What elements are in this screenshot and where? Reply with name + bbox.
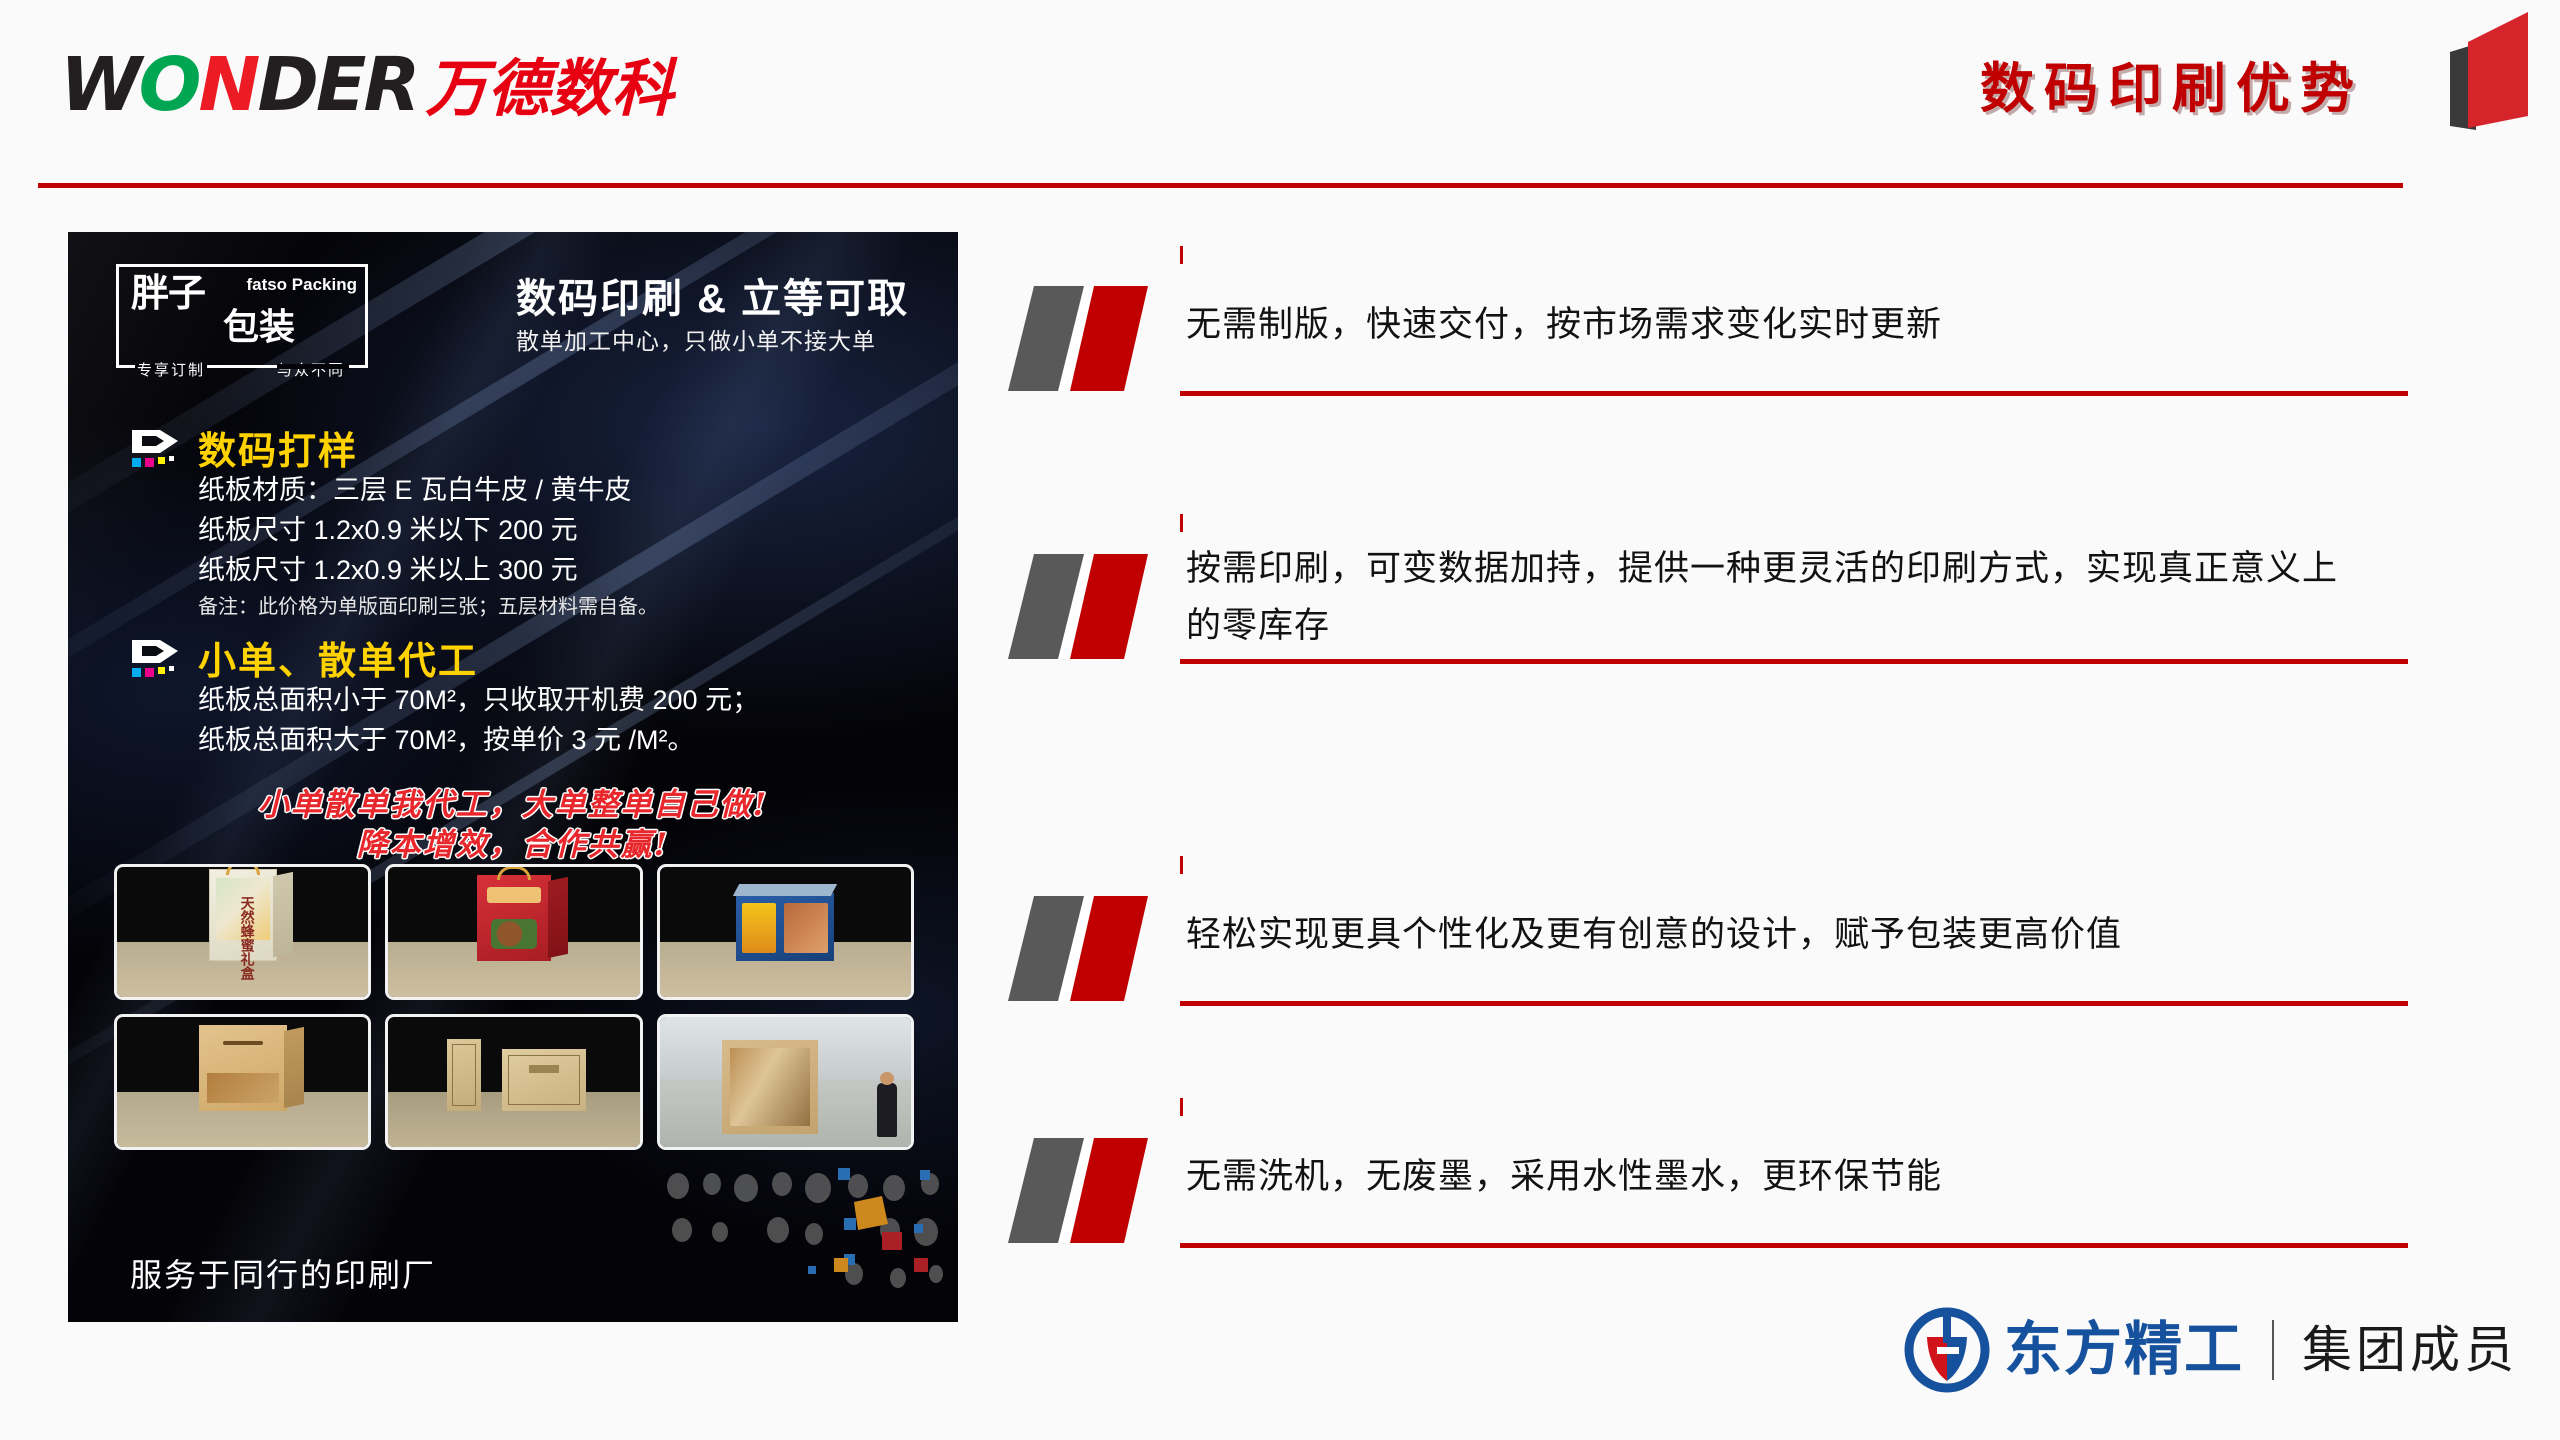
fatso-cn-line1: 胖子 — [131, 275, 205, 313]
photo-box — [502, 1049, 586, 1111]
advantage-text: 无需洗机，无废墨，采用水性墨水，更环保节能 — [1186, 1148, 2346, 1205]
photo-box — [736, 893, 834, 961]
photo-box — [477, 875, 551, 961]
product-photo — [385, 1014, 642, 1150]
photo-box-panel — [742, 903, 776, 953]
photo-box-art — [207, 1073, 279, 1103]
dot-pattern-decoration — [658, 1162, 958, 1322]
section-body: 纸板材质：三层 E 瓦白牛皮 / 黄牛皮 纸板尺寸 1.2x0.9 米以下 20… — [198, 470, 658, 624]
product-photo — [114, 1014, 371, 1150]
chevron-bars-icon — [1008, 896, 1186, 1001]
bullet-tick — [1180, 514, 1183, 532]
wordmark-o-green: O — [139, 42, 199, 128]
poster-subheadline: 散单加工中心，只做小单不接大单 — [516, 322, 876, 356]
fatso-tag-left: 专享订制 — [137, 359, 205, 380]
advantage-underline — [1180, 391, 2408, 396]
chevron-bars-icon — [1008, 286, 1186, 391]
photo-box-label: 天然蜂蜜礼盒 — [238, 896, 258, 980]
advantage-underline — [1180, 659, 2408, 664]
arrow-bullet-icon — [130, 428, 186, 470]
photo-person-head — [880, 1072, 894, 1085]
chevron-bars-icon — [1008, 1138, 1186, 1243]
photo-box-badge — [487, 887, 541, 903]
section-line: 纸板材质：三层 E 瓦白牛皮 / 黄牛皮 — [198, 470, 658, 510]
chevron-bars-icon — [1008, 554, 1186, 659]
photo-handle-icon — [497, 866, 531, 880]
wordmark-der: DER — [257, 42, 417, 128]
arrow-bullet-icon — [130, 638, 186, 680]
wordmark-w: W — [60, 42, 139, 128]
photo-box-frame — [452, 1044, 476, 1106]
photo-box — [199, 1025, 287, 1111]
advantage-text: 轻松实现更具个性化及更有创意的设计，赋予包装更高价值 — [1186, 906, 2346, 963]
bullet-tick — [1180, 1098, 1183, 1116]
product-photo — [657, 1014, 914, 1150]
photo-box-title-bar — [529, 1065, 559, 1073]
photo-box-frame — [508, 1055, 580, 1105]
photo-box-art — [491, 919, 537, 949]
photo-box-side — [284, 1027, 304, 1109]
product-photo-grid: 天然蜂蜜礼盒 — [114, 864, 914, 1150]
header-divider — [38, 183, 2403, 188]
footer-member-label: 集团成员 — [2302, 1325, 2518, 1375]
bullet-tick — [1180, 856, 1183, 874]
photo-box — [722, 1040, 818, 1134]
photo-box-slot — [223, 1041, 263, 1045]
wonder-wordmark: WONDER — [60, 48, 417, 122]
advantage-underline — [1180, 1243, 2408, 1248]
product-photo: 天然蜂蜜礼盒 — [114, 864, 371, 1000]
group-footer-logo: 东方精工 集团成员 — [1904, 1304, 2518, 1396]
photo-box-small — [447, 1039, 481, 1111]
brand-logo: WONDER 万德数科 — [60, 48, 673, 128]
section-body: 纸板总面积小于 70M²，只收取开机费 200 元； 纸板总面积大于 70M²，… — [198, 680, 759, 760]
section-title: 小单、散单代工 — [198, 630, 478, 685]
advantage-item[interactable]: 轻松实现更具个性化及更有创意的设计，赋予包装更高价值 — [1008, 860, 2408, 1040]
section-line: 纸板尺寸 1.2x0.9 米以上 300 元 — [198, 550, 658, 590]
section-title: 数码打样 — [198, 420, 358, 475]
footer-company-name: 东方精工 — [2004, 1321, 2244, 1379]
wordmark-n-red: N — [199, 42, 258, 128]
poster-slogan-line1: 小单散单我代工，大单整单自己做! — [68, 784, 958, 826]
photo-person — [877, 1083, 897, 1137]
advantage-item[interactable]: 按需印刷，可变数据加持，提供一种更灵活的印刷方式，实现真正意义上的零库存 — [1008, 518, 2408, 748]
photo-box: 天然蜂蜜礼盒 — [209, 869, 277, 961]
advantage-text: 按需印刷，可变数据加持，提供一种更灵活的印刷方式，实现真正意义上的零库存 — [1186, 540, 2346, 654]
advantage-text: 无需制版，快速交付，按市场需求变化实时更新 — [1186, 296, 2346, 353]
poster-headline: 数码印刷 & 立等可取 — [516, 266, 909, 324]
bullet-tick — [1180, 246, 1183, 264]
fatso-tag-right: 与众不同 — [277, 359, 345, 380]
photo-box-side — [273, 872, 293, 957]
page-title: 数码印刷优势 — [1980, 44, 2364, 123]
advantage-item[interactable]: 无需洗机，无废墨，采用水性墨水，更环保节能 — [1008, 1102, 2408, 1282]
corner-decoration-icon — [2446, 8, 2532, 134]
promo-poster: 胖子 fatso Packing 包装 专享订制 与众不同 数码印刷 & 立等可… — [68, 232, 958, 1322]
product-photo — [657, 864, 914, 1000]
product-photo — [385, 864, 642, 1000]
advantage-item[interactable]: 无需制版，快速交付，按市场需求变化实时更新 — [1008, 250, 2408, 430]
poster-footer-text: 服务于同行的印刷厂 — [130, 1250, 436, 1296]
dongfang-emblem-icon — [1904, 1307, 1990, 1393]
section-line: 纸板总面积小于 70M²，只收取开机费 200 元； — [198, 680, 759, 720]
slide: WONDER 万德数科 数码印刷优势 胖子 fatso Packing 包装 专… — [0, 0, 2560, 1440]
poster-slogan-line2: 降本增效，合作共赢! — [68, 824, 958, 866]
photo-handle-icon — [226, 864, 260, 875]
fatso-brand-mark: 胖子 fatso Packing 包装 专享订制 与众不同 — [116, 264, 368, 368]
section-line: 纸板总面积大于 70M²，按单价 3 元 /M²。 — [198, 720, 759, 760]
photo-box-top — [733, 884, 837, 896]
brand-chinese-name: 万德数科 — [425, 59, 673, 121]
section-note: 备注：此价格为单版面印刷三张；五层材料需自备。 — [198, 590, 658, 624]
photo-box-side — [548, 877, 568, 959]
footer-divider — [2272, 1320, 2274, 1380]
photo-box-art — [730, 1048, 810, 1126]
fatso-en-name: fatso Packing — [246, 275, 357, 295]
advantage-underline — [1180, 1001, 2408, 1006]
fatso-cn-line2: 包装 — [223, 309, 295, 345]
photo-box-art — [784, 903, 828, 953]
section-line: 纸板尺寸 1.2x0.9 米以下 200 元 — [198, 510, 658, 550]
